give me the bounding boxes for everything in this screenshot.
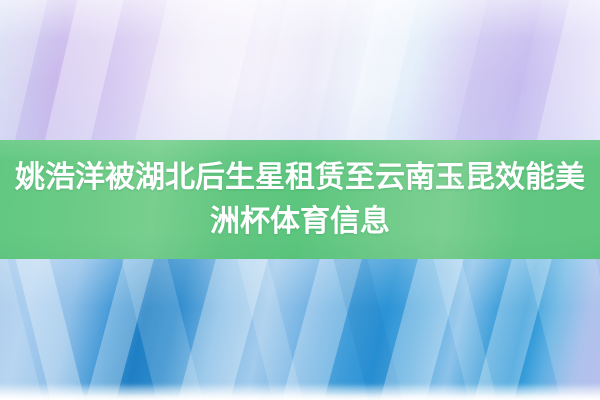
facet-shape: [0, 0, 50, 141]
facet-shape: [277, 258, 365, 400]
top-gradient-panel: [0, 0, 600, 141]
facet-shape: [340, 0, 419, 141]
facet-shape: [532, 0, 600, 141]
facet-shape: [173, 258, 271, 400]
facet-shape: [523, 258, 600, 400]
facet-shape: [0, 258, 47, 400]
facet-shape: [119, 258, 207, 400]
headline-band: 姚浩洋被湖北后生星租赁至云南玉昆效能美洲杯体育信息: [0, 140, 600, 259]
facet-shape: [331, 258, 407, 400]
facet-shape: [450, 0, 544, 141]
bottom-fade-overlay: [0, 384, 600, 400]
page-title: 姚浩洋被湖北后生星租赁至云南玉昆效能美洲杯体育信息: [10, 156, 590, 244]
facet-shape: [375, 258, 467, 400]
facet-shape: [250, 0, 349, 141]
facet-shape: [13, 258, 89, 400]
facet-shape: [431, 258, 501, 400]
facet-shape: [40, 0, 125, 141]
facet-shape: [81, 258, 157, 400]
facet-shape: [469, 258, 555, 400]
bottom-gradient-panel: [0, 258, 600, 400]
facet-shape: [235, 258, 307, 400]
facet-shape: [130, 0, 259, 141]
promo-banner: 姚浩洋被湖北后生星租赁至云南玉昆效能美洲杯体育信息: [0, 0, 600, 400]
